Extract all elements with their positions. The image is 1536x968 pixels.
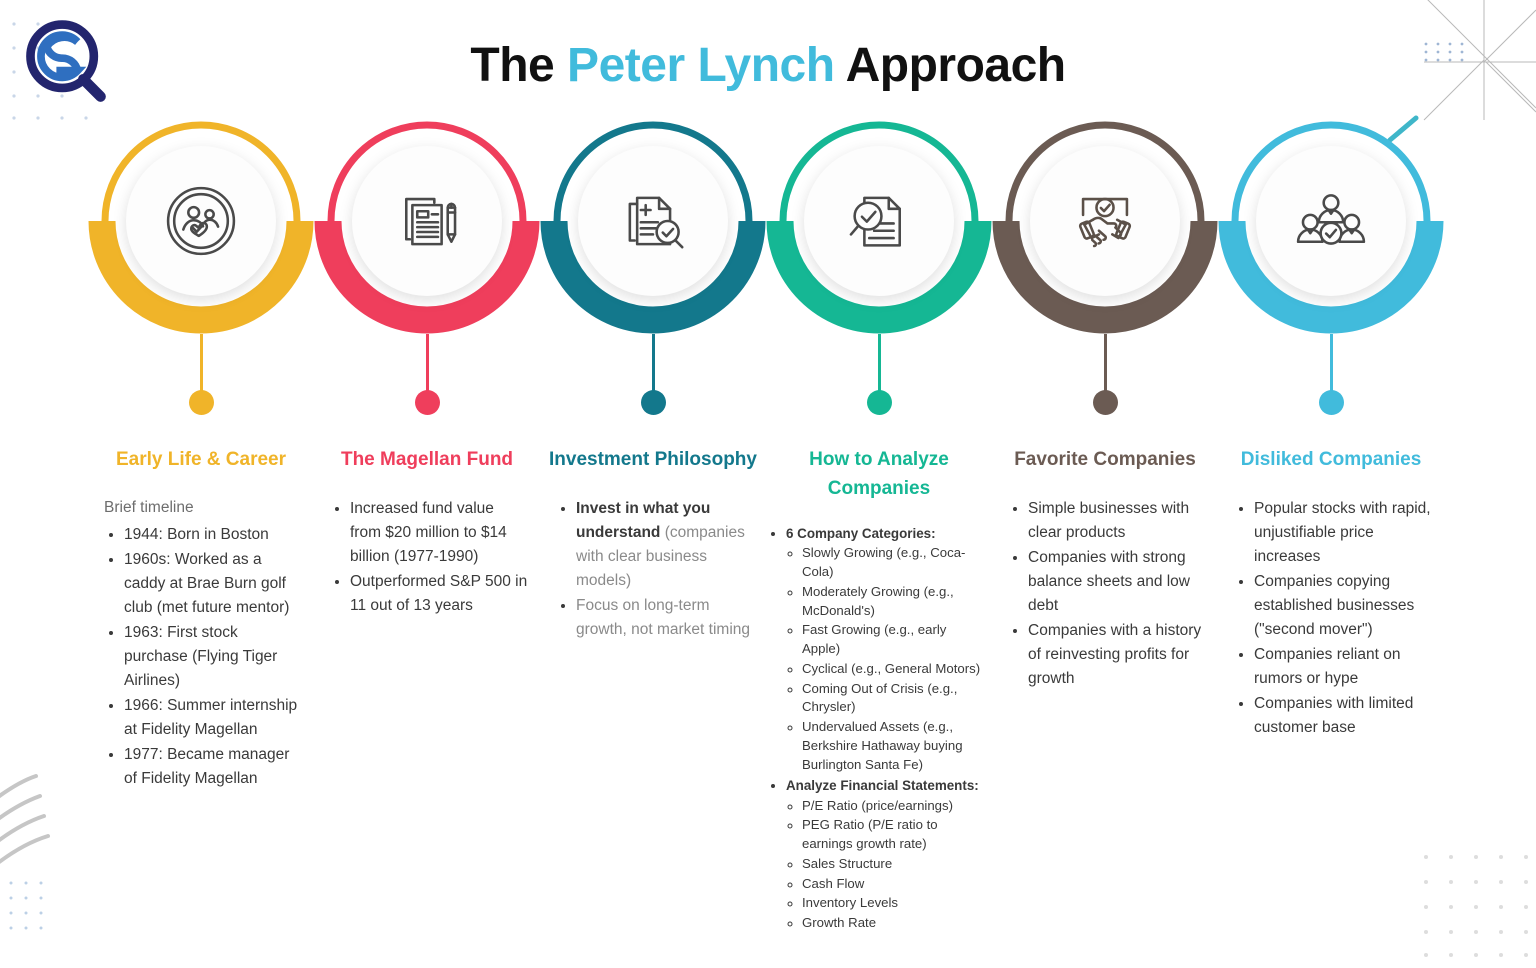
title-suffix: Approach (835, 39, 1066, 92)
list-item: Growth Rate (802, 914, 986, 933)
connector-dot-disliked-companies (1319, 390, 1344, 415)
list-item: Companies with limited customer base (1254, 692, 1432, 740)
list-item-text: Simple businesses with clear products (1028, 500, 1189, 541)
node-favorite-companies[interactable] (992, 108, 1218, 424)
list-item-text: Companies with strong balance sheets and… (1028, 549, 1190, 614)
document-pencil-icon (388, 182, 466, 260)
connector-stem-magellan-fund (426, 334, 429, 396)
people-heart-check-icon (162, 182, 240, 260)
connector-dot-early-life-career (189, 390, 214, 415)
node-how-to-analyze-companies[interactable] (766, 108, 992, 424)
list-item-text: 1944: Born in Boston (124, 526, 269, 543)
list-item-text: Companies reliant on rumors or hype (1254, 646, 1400, 687)
list-item: Popular stocks with rapid, unjustifiable… (1254, 497, 1432, 569)
title-highlight: Peter Lynch (567, 39, 834, 92)
column-heading-favorite-companies: Favorite Companies (992, 446, 1218, 475)
list-item: Fast Growing (e.g., early Apple) (802, 621, 986, 658)
connector-dot-investment-philosophy (641, 390, 666, 415)
list-item: 1960s: Worked as a caddy at Brae Burn go… (124, 548, 302, 620)
list-item: Cash Flow (802, 875, 986, 894)
column-body-investment-philosophy: Invest in what you understand (companies… (540, 497, 766, 642)
list-item: Undervalued Assets (e.g., Berkshire Hath… (802, 718, 986, 774)
icon-disc-investment-philosophy (578, 146, 728, 296)
analysis-sublist: P/E Ratio (price/earnings)PEG Ratio (P/E… (786, 797, 986, 933)
connector-stem-favorite-companies (1104, 334, 1107, 396)
connector-dot-favorite-companies (1093, 390, 1118, 415)
column-heading-investment-philosophy: Investment Philosophy (540, 446, 766, 475)
column-how-to-analyze-companies: How to Analyze Companies6 Company Catego… (766, 108, 992, 934)
column-body-favorite-companies: Simple businesses with clear productsCom… (992, 497, 1218, 691)
list-item: 1944: Born in Boston (124, 523, 302, 547)
icon-disc-disliked-companies (1256, 146, 1406, 296)
list-item-text: 1960s: Worked as a caddy at Brae Burn go… (124, 551, 289, 616)
list-item: Moderately Growing (e.g., McDonald's) (802, 583, 986, 620)
list-item: Companies copying established businesses… (1254, 570, 1432, 642)
list-item: Sales Structure (802, 855, 986, 874)
magnifier-document-check-icon (840, 182, 918, 260)
analysis-sublist: Slowly Growing (e.g., Coca-Cola)Moderate… (786, 544, 986, 774)
title-prefix: The (470, 39, 567, 92)
connector-stem-disliked-companies (1330, 334, 1333, 396)
node-disliked-companies[interactable] (1218, 108, 1444, 424)
node-investment-philosophy[interactable] (540, 108, 766, 424)
column-early-life-career: Early Life & CareerBrief timeline1944: B… (88, 108, 314, 792)
list-item-text: Popular stocks with rapid, unjustifiable… (1254, 500, 1431, 565)
column-heading-disliked-companies: Disliked Companies (1218, 446, 1444, 475)
icon-disc-how-to-analyze-companies (804, 146, 954, 296)
column-lead-text: Brief timeline (104, 497, 302, 519)
column-investment-philosophy: Investment PhilosophyInvest in what you … (540, 108, 766, 643)
connector-dot-how-to-analyze-companies (867, 390, 892, 415)
list-item: Companies with strong balance sheets and… (1028, 546, 1206, 618)
node-early-life-career[interactable] (88, 108, 314, 424)
connector-dot-magellan-fund (415, 390, 440, 415)
list-item: P/E Ratio (price/earnings) (802, 797, 986, 816)
column-heading-how-to-analyze-companies: How to Analyze Companies (766, 446, 992, 503)
list-item-text: 1977: Became manager of Fidelity Magella… (124, 746, 289, 787)
column-list: Increased fund value from $20 million to… (328, 497, 528, 618)
column-body-disliked-companies: Popular stocks with rapid, unjustifiable… (1218, 497, 1444, 740)
icon-disc-favorite-companies (1030, 146, 1180, 296)
list-item-text: Increased fund value from $20 million to… (350, 500, 507, 565)
columns-container: Early Life & CareerBrief timeline1944: B… (0, 108, 1536, 968)
analysis-group-label: 6 Company Categories: (786, 526, 936, 541)
list-item-text: Companies copying established businesses… (1254, 573, 1414, 638)
document-check-magnifier-icon (614, 182, 692, 260)
list-item: Slowly Growing (e.g., Coca-Cola) (802, 544, 986, 581)
page-title: The Peter Lynch Approach (0, 38, 1536, 93)
column-heading-early-life-career: Early Life & Career (88, 446, 314, 475)
list-item-text: Focus on long-term growth, not market ti… (576, 597, 750, 638)
list-item-text: Companies with limited customer base (1254, 695, 1413, 736)
column-list: 1944: Born in Boston1960s: Worked as a c… (102, 523, 302, 791)
column-list: Simple businesses with clear productsCom… (1006, 497, 1206, 691)
icon-disc-magellan-fund (352, 146, 502, 296)
list-item: 1966: Summer internship at Fidelity Mage… (124, 694, 302, 742)
infographic-canvas: The Peter Lynch Approach Early Life & Ca… (0, 0, 1536, 965)
column-body-magellan-fund: Increased fund value from $20 million to… (314, 497, 540, 618)
list-item-text: 1963: First stock purchase (Flying Tiger… (124, 624, 277, 689)
list-item: Simple businesses with clear products (1028, 497, 1206, 545)
list-item: Coming Out of Crisis (e.g., Chrysler) (802, 680, 986, 717)
people-group-check-icon (1292, 182, 1370, 260)
list-item: 1977: Became manager of Fidelity Magella… (124, 743, 302, 791)
list-item: Outperformed S&P 500 in 11 out of 13 yea… (350, 570, 528, 618)
list-item: Focus on long-term growth, not market ti… (576, 594, 754, 642)
column-body-how-to-analyze-companies: 6 Company Categories:Slowly Growing (e.g… (766, 523, 992, 933)
list-item: Companies reliant on rumors or hype (1254, 643, 1432, 691)
column-body-early-life-career: Brief timeline1944: Born in Boston1960s:… (88, 497, 314, 792)
analysis-group: 6 Company Categories:Slowly Growing (e.g… (786, 523, 986, 774)
list-item: Invest in what you understand (companies… (576, 497, 754, 593)
list-item-text: Companies with a history of reinvesting … (1028, 622, 1201, 687)
list-item: Cyclical (e.g., General Motors) (802, 660, 986, 679)
list-item-text: 1966: Summer internship at Fidelity Mage… (124, 697, 297, 738)
list-item: Inventory Levels (802, 894, 986, 913)
analysis-group: Analyze Financial Statements:P/E Ratio (… (786, 775, 986, 933)
column-list: Invest in what you understand (companies… (554, 497, 754, 642)
column-favorite-companies: Favorite CompaniesSimple businesses with… (992, 108, 1218, 692)
column-list: Popular stocks with rapid, unjustifiable… (1232, 497, 1432, 740)
connector-stem-early-life-career (200, 334, 203, 396)
list-item: 1963: First stock purchase (Flying Tiger… (124, 621, 302, 693)
analysis-group-list: 6 Company Categories:Slowly Growing (e.g… (772, 523, 986, 933)
list-item: PEG Ratio (P/E ratio to earnings growth … (802, 816, 986, 853)
connector-stem-how-to-analyze-companies (878, 334, 881, 396)
column-disliked-companies: Disliked CompaniesPopular stocks with ra… (1218, 108, 1444, 741)
column-magellan-fund: The Magellan FundIncreased fund value fr… (314, 108, 540, 619)
column-heading-magellan-fund: The Magellan Fund (314, 446, 540, 475)
icon-disc-early-life-career (126, 146, 276, 296)
list-item-text: Outperformed S&P 500 in 11 out of 13 yea… (350, 573, 527, 614)
connector-stem-investment-philosophy (652, 334, 655, 396)
list-item: Companies with a history of reinvesting … (1028, 619, 1206, 691)
node-magellan-fund[interactable] (314, 108, 540, 424)
list-item: Increased fund value from $20 million to… (350, 497, 528, 569)
handshake-check-icon (1066, 182, 1144, 260)
analysis-group-label: Analyze Financial Statements: (786, 778, 979, 793)
